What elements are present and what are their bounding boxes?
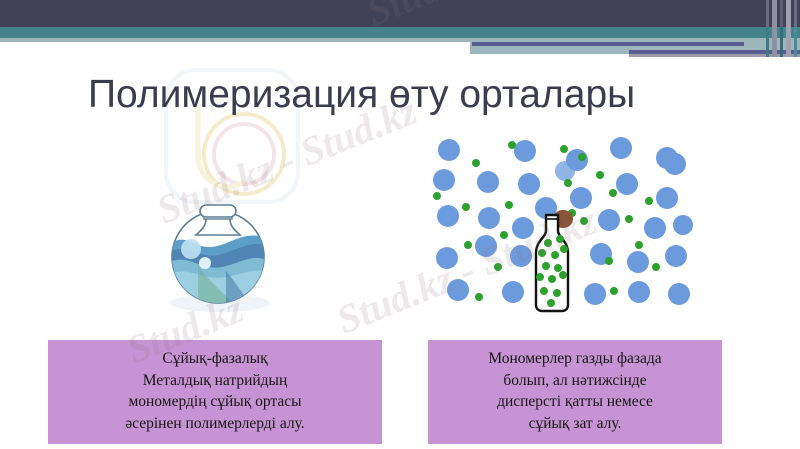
slide-canvas: Полимеризация өту орталары	[0, 0, 800, 449]
monomer-particle	[437, 205, 459, 227]
dispersed-particle	[605, 257, 613, 265]
dispersed-particle	[564, 179, 572, 187]
dispersed-particle	[596, 171, 604, 179]
monomer-particle	[570, 187, 592, 209]
monomer-particle	[665, 245, 687, 267]
dispersed-particle	[578, 153, 586, 161]
monomer-particle	[438, 139, 460, 161]
monomer-particle	[656, 187, 678, 209]
dispersed-particle	[560, 145, 568, 153]
header-vstripe-teal-1	[766, 27, 769, 57]
monomer-particle	[644, 217, 666, 239]
monomer-particle	[616, 173, 638, 195]
dispersed-particle	[472, 159, 480, 167]
monomer-particle	[514, 140, 536, 162]
monomer-particle	[555, 161, 575, 181]
monomer-particle	[477, 171, 499, 193]
header-vstripe-teal-3	[794, 27, 797, 57]
monomer-particle	[610, 137, 632, 159]
header-dark-band	[0, 0, 800, 27]
header-teal-band	[0, 27, 800, 38]
caption-box-left: Сұйық-фазалық Металдық натрийдың мономер…	[48, 340, 382, 444]
monomer-particle	[664, 153, 686, 175]
dispersed-particle	[635, 241, 643, 249]
collection-bottle	[524, 209, 582, 321]
monomer-field-illustration	[420, 135, 700, 320]
monomer-particle	[518, 173, 540, 195]
monomer-particle	[584, 283, 606, 305]
caption-left-line-1: Сұйық-фазалық	[48, 348, 382, 370]
monomer-particle	[475, 235, 497, 257]
caption-right-line-4: сұйық зат алу.	[428, 413, 722, 435]
dispersed-particle	[508, 141, 516, 149]
page-title: Полимеризация өту орталары	[88, 71, 728, 119]
monomer-particle	[447, 279, 469, 301]
caption-right-line-3: дисперсті қатты немесе	[428, 391, 722, 413]
monomer-particle	[502, 281, 524, 303]
header-vstripe-4	[786, 0, 791, 57]
caption-right-line-1: Мономерлер газды фазада	[428, 348, 722, 370]
dispersed-particle	[500, 231, 508, 239]
dispersed-particle	[610, 287, 618, 295]
dispersed-particle	[475, 293, 483, 301]
monomer-particle	[668, 283, 690, 305]
dispersed-particle	[645, 197, 653, 205]
monomer-particle	[598, 209, 620, 231]
caption-left-line-4: әсерінен полимерлерді алу.	[48, 413, 382, 435]
caption-left-line-3: мономердің сұйық ортасы	[48, 391, 382, 413]
dispersed-particle	[464, 241, 472, 249]
monomer-particle	[478, 207, 500, 229]
caption-left-line-2: Металдық натрийдың	[48, 370, 382, 392]
caption-box-right: Мономерлер газды фазада болып, ал нәтижс…	[428, 340, 722, 444]
caption-right-line-2: болып, ал нәтижсінде	[428, 370, 722, 392]
header-vstripe-2	[772, 0, 777, 57]
header-accent-rule-upper	[472, 42, 744, 46]
dispersed-particle	[433, 192, 441, 200]
header-vstripe-teal-2	[780, 27, 783, 57]
dispersed-particle	[609, 189, 617, 197]
dispersed-particle	[625, 215, 633, 223]
monomer-particle	[433, 169, 455, 191]
dispersed-particle	[462, 203, 470, 211]
monomer-particle	[628, 281, 650, 303]
dispersed-particle	[505, 201, 513, 209]
monomer-particle	[627, 251, 649, 273]
flask-illustration	[138, 175, 298, 315]
dispersed-particle	[652, 263, 660, 271]
dispersed-particle	[494, 263, 502, 271]
monomer-particle	[673, 215, 693, 235]
monomer-particle	[436, 247, 458, 269]
